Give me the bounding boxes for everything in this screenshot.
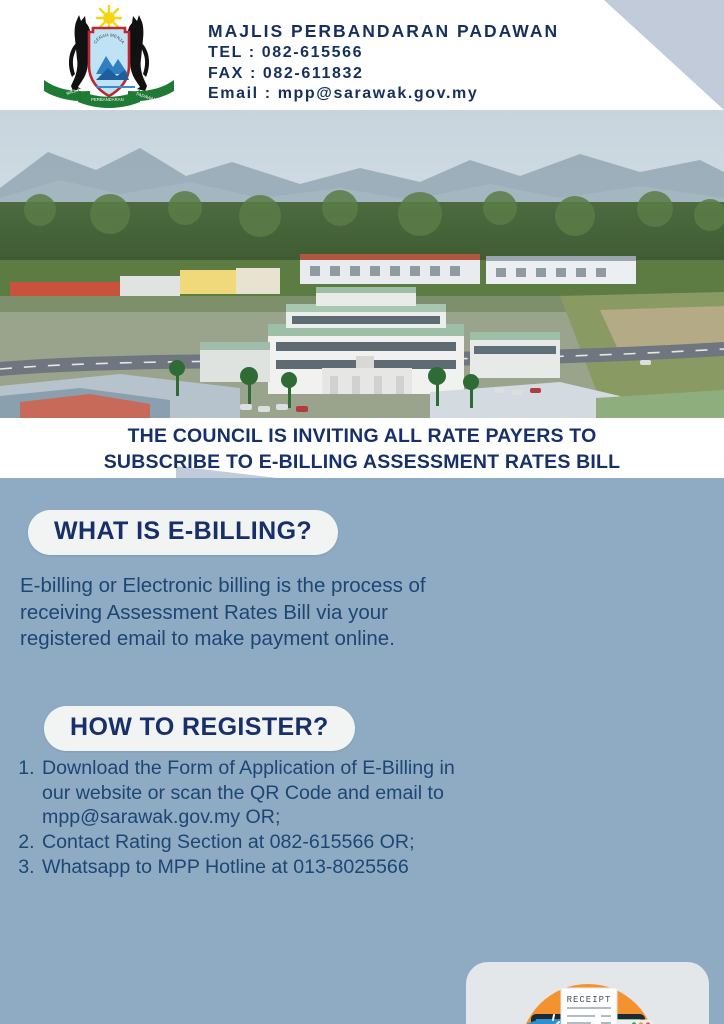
header-contact-block: MAJLIS PERBANDARAN PADAWAN TEL : 082-615…: [208, 20, 559, 105]
online-payment-illustration-icon: **** PAY RECEIPT: [466, 972, 709, 1024]
email-line: Email : mpp@sarawak.gov.my: [208, 84, 559, 105]
receipt-label: RECEIPT: [566, 995, 611, 1005]
how-to-register-label: HOW TO REGISTER?: [44, 706, 355, 751]
poster-header: CERAH MENJADI MAKMUR MAJLIS PERBANDARAN …: [0, 0, 724, 110]
register-step: Download the Form of Application of E-Bi…: [40, 756, 470, 830]
what-is-ebilling-heading: WHAT IS E-BILLING?: [28, 510, 338, 555]
register-step: Whatsapp to MPP Hotline at 013-8025566: [40, 855, 470, 880]
left-content-column: WHAT IS E-BILLING? E-billing or Electron…: [0, 478, 462, 1024]
majlis-perbandaran-padawan-crest-icon: CERAH MENJADI MAKMUR MAJLIS PERBANDARAN …: [34, 2, 184, 108]
fax-line: FAX : 082-611832: [208, 64, 559, 85]
organization-name: MAJLIS PERBANDARAN PADAWAN: [208, 20, 559, 43]
headline-band: THE COUNCIL IS INVITING ALL RATE PAYERS …: [0, 418, 724, 478]
svg-text:PERBANDARAN: PERBANDARAN: [91, 97, 124, 102]
what-is-ebilling-body: E-billing or Electronic billing is the p…: [20, 573, 444, 653]
benefits-icon-panel: **** PAY RECEIPT: [466, 962, 709, 1024]
e-billing-poster: CERAH MENJADI MAKMUR MAJLIS PERBANDARAN …: [0, 0, 724, 1024]
register-step: Contact Rating Section at 082-615566 OR;: [40, 830, 470, 855]
how-to-register-heading: HOW TO REGISTER?: [44, 706, 355, 751]
aerial-township-photo: [0, 110, 724, 418]
headline-line-1: THE COUNCIL IS INVITING ALL RATE PAYERS …: [0, 424, 724, 450]
what-is-ebilling-label: WHAT IS E-BILLING?: [28, 510, 338, 555]
register-steps-list: Download the Form of Application of E-Bi…: [14, 756, 470, 879]
header-corner-decoration: [604, 0, 724, 110]
headline-line-2: SUBSCRIBE TO E-BILLING ASSESSMENT RATES …: [0, 450, 724, 476]
tel-line: TEL : 082-615566: [208, 43, 559, 64]
poster-body: WHAT IS E-BILLING? E-billing or Electron…: [0, 478, 724, 1024]
